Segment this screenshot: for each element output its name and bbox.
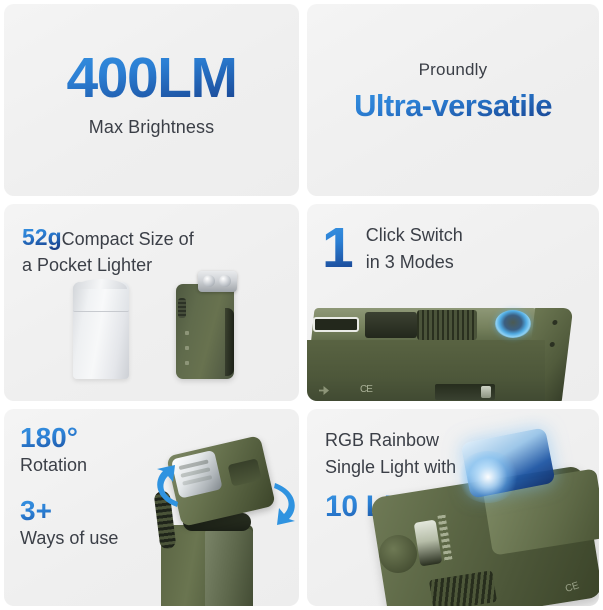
charging-port — [313, 317, 359, 332]
rotation-label: Rotation — [20, 454, 118, 477]
screw-dot — [549, 342, 555, 347]
device-dot — [185, 331, 189, 335]
rotation-degrees: 180° — [20, 423, 118, 454]
ways-label: Ways of use — [20, 527, 118, 550]
screw-dot — [552, 320, 558, 325]
brightness-text-block: 400LM Max Brightness — [4, 50, 299, 138]
brightness-subtext: Max Brightness — [4, 117, 299, 138]
slider-slot — [435, 384, 495, 400]
device-dot — [185, 361, 189, 365]
versatile-headline: Ultra-versatile — [307, 88, 599, 124]
switch-lines: Click Switch in 3 Modes — [366, 222, 463, 274]
black-pad — [365, 312, 417, 338]
usb-icon — [319, 386, 329, 395]
switch-number: 1 — [322, 220, 366, 277]
flashlight-side-view-image: CE — [307, 308, 599, 401]
panel-compact-size: 52gCompact Size of a Pocket Lighter — [4, 204, 299, 401]
compact-weight: 52g — [22, 224, 62, 250]
switch-line2: in 3 Modes — [366, 249, 463, 275]
product-infographic: 400LM Max Brightness Proundly Ultra-vers… — [0, 0, 603, 610]
ridged-wheel — [417, 310, 477, 340]
ways-count: 3+ — [20, 496, 118, 527]
switch-text-block: 1 Click Switch in 3 Modes — [322, 220, 463, 277]
flashlight-device-image — [176, 284, 234, 379]
grip-texture — [178, 298, 186, 318]
brand-logo: CE — [564, 580, 581, 595]
head-notch — [228, 458, 262, 486]
versatile-text-block: Proundly Ultra-versatile — [307, 60, 599, 124]
brightness-headline: 400LM — [4, 50, 299, 107]
pocket-lighter-image — [73, 282, 129, 379]
rotation-arrow-left-icon — [149, 465, 183, 509]
rotation-arrow-right-icon — [269, 481, 299, 525]
device-base-side — [205, 529, 253, 606]
rotation-text-block: 180° Rotation 3+ Ways of use — [20, 423, 118, 550]
panel-max-brightness: 400LM Max Brightness — [4, 4, 299, 196]
panel-rgb-light: RGB Rainbow Single Light with 10 LM CE — [307, 409, 599, 606]
compact-line1: Compact Size of — [62, 229, 194, 249]
mode-button — [495, 310, 531, 338]
device-edge — [225, 308, 234, 376]
switch-line1: Click Switch — [366, 222, 463, 248]
versatile-eyebrow: Proundly — [307, 60, 599, 80]
rotating-head-device-image — [149, 429, 299, 606]
panel-ultra-versatile: Proundly Ultra-versatile — [307, 4, 599, 196]
device-body: CE — [307, 340, 545, 401]
panel-click-switch: 1 Click Switch in 3 Modes CE — [307, 204, 599, 401]
brand-logo: CE — [360, 384, 372, 395]
led-glow — [457, 451, 519, 503]
compact-text-block: 52gCompact Size of a Pocket Lighter — [22, 222, 194, 277]
panel-rotation: 180° Rotation 3+ Ways of use — [4, 409, 299, 606]
compact-line2: a Pocket Lighter — [22, 253, 194, 277]
device-dot — [185, 346, 189, 350]
rgb-light-device-image: CE — [369, 431, 599, 606]
light-head — [198, 271, 237, 292]
